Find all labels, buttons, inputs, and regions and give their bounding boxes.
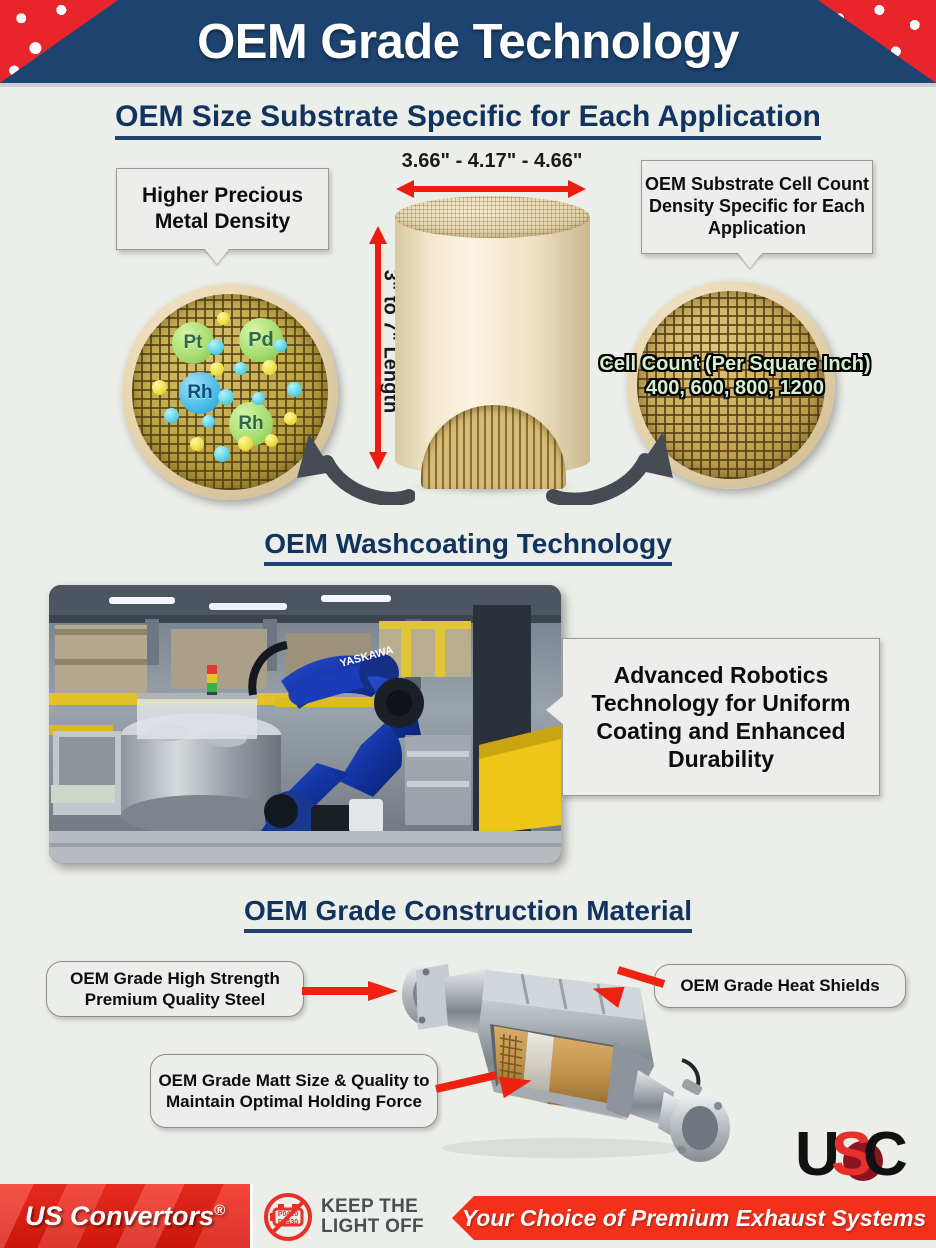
curved-arrow-to-right-circle [545,400,685,505]
footer-tagline-banner: Your Choice of Premium Exhaust Systems [452,1196,936,1240]
header-divider [0,83,936,87]
callout-advanced-robotics: Advanced Robotics Technology for Uniform… [562,638,880,796]
metal-particle-icon [218,389,234,405]
callout-tail [205,249,229,264]
arrow-head-icon [368,981,398,1001]
cylinder-top-honeycomb-face [395,196,590,238]
page-title: OEM Grade Technology [0,0,936,83]
metal-bubble-pt-label: Pt [184,332,203,354]
usc-logo: U S C [795,1117,923,1189]
robot-factory-illustration: YASKAWA [49,585,561,863]
section-title-substrate-text: OEM Size Substrate Specific for Each App… [115,100,821,140]
section-title-washcoating: OEM Washcoating Technology [0,528,936,566]
cell-count-line2: 400, 600, 800, 1200 [585,376,885,400]
metal-bubble-rh-blue: Rh [179,372,221,414]
callout-matt-quality: OEM Grade Matt Size & Quality to Maintai… [150,1054,438,1128]
keep-the-light-off-text: KEEP THE LIGHT OFF [321,1197,424,1237]
callout-matt-quality-text: OEM Grade Matt Size & Quality to Maintai… [151,1070,437,1112]
arrow-to-heat-shields [592,972,664,1022]
metal-particle-icon [217,312,230,325]
footer-brand-registered-mark: ® [214,1202,225,1219]
metal-particle-icon [152,380,167,395]
metal-bubble-pd-label: Pd [248,329,274,352]
callout-tail [546,696,563,724]
keep-light-line2: LIGHT OFF [321,1217,424,1237]
callout-cell-count-density-text: OEM Substrate Cell Count Density Specifi… [642,174,872,240]
arrow-shaft [435,1071,497,1093]
callout-premium-steel-text: OEM Grade High Strength Premium Quality … [47,968,303,1010]
metal-particle-icon [252,392,265,405]
arrow-to-matt [436,1073,532,1095]
metal-particle-icon [234,362,247,375]
footer-brand-text: US Convertors® [25,1201,225,1232]
arrow-head-icon [499,1070,534,1098]
footer-brand-name: US Convertors [25,1201,214,1231]
metal-bubble-rh-green-label: Rh [238,413,263,435]
cell-count-line1: Cell Count (Per Square Inch) [585,352,885,376]
footer-tagline-text: Your Choice of Premium Exhaust Systems [462,1205,926,1232]
metal-particle-icon [274,339,287,352]
metal-particle-icon [262,360,277,375]
usc-logo-letter-c: C [863,1120,908,1189]
section-title-substrate: OEM Size Substrate Specific for Each App… [0,100,936,140]
page-header: OEM Grade Technology [0,0,936,83]
callout-advanced-robotics-text: Advanced Robotics Technology for Uniform… [563,661,879,773]
metal-particle-icon [164,408,179,423]
robot-factory-photo: YASKAWA [49,585,561,863]
callout-premium-steel: OEM Grade High Strength Premium Quality … [46,961,304,1017]
curved-arrow-to-left-circle [285,400,415,505]
infographic-page: OEM Grade Technology OEM Size Substrate … [0,0,936,1248]
cell-count-overlay: Cell Count (Per Square Inch) 400, 600, 8… [585,352,885,401]
metal-particle-icon [190,437,204,451]
metal-particle-icon [210,362,224,376]
usc-logo-mark: U S C [795,1117,923,1189]
callout-precious-metal-density: Higher Precious Metal Density [116,168,329,250]
callout-tail [738,253,762,268]
metal-particle-icon [287,382,302,397]
metal-particle-icon [238,436,253,451]
metal-particle-icon [202,415,215,428]
callout-precious-metal-density-text: Higher Precious Metal Density [117,183,328,234]
callout-cell-count-density: OEM Substrate Cell Count Density Specifi… [641,160,873,254]
metal-particle-icon [265,434,278,447]
keep-the-light-off-logo: P0420 P0430 KEEP THE LIGHT OFF [263,1188,448,1246]
dimension-width-label: 3.66" - 4.17" - 4.66" [372,150,612,173]
callout-heat-shields: OEM Grade Heat Shields [654,964,906,1008]
metal-particle-icon [208,339,224,355]
footer-brand-badge: US Convertors® [0,1184,253,1248]
metal-bubble-rh-blue-label: Rh [187,382,212,404]
arrow-head-icon [589,978,624,1008]
section-title-washcoating-text: OEM Washcoating Technology [264,528,672,566]
arrow-to-steel [302,981,398,1001]
arrow-shaft [412,186,570,192]
callout-heat-shields-text: OEM Grade Heat Shields [680,975,879,996]
metal-particle-icon [214,446,230,462]
no-check-engine-light-icon: P0420 P0430 [263,1192,313,1242]
section-title-construction: OEM Grade Construction Material [0,895,936,933]
keep-light-line1: KEEP THE [321,1197,424,1217]
arrow-shaft [302,987,368,995]
section-title-construction-text: OEM Grade Construction Material [244,895,692,933]
prohibition-engine-icon: P0420 P0430 [263,1192,313,1242]
